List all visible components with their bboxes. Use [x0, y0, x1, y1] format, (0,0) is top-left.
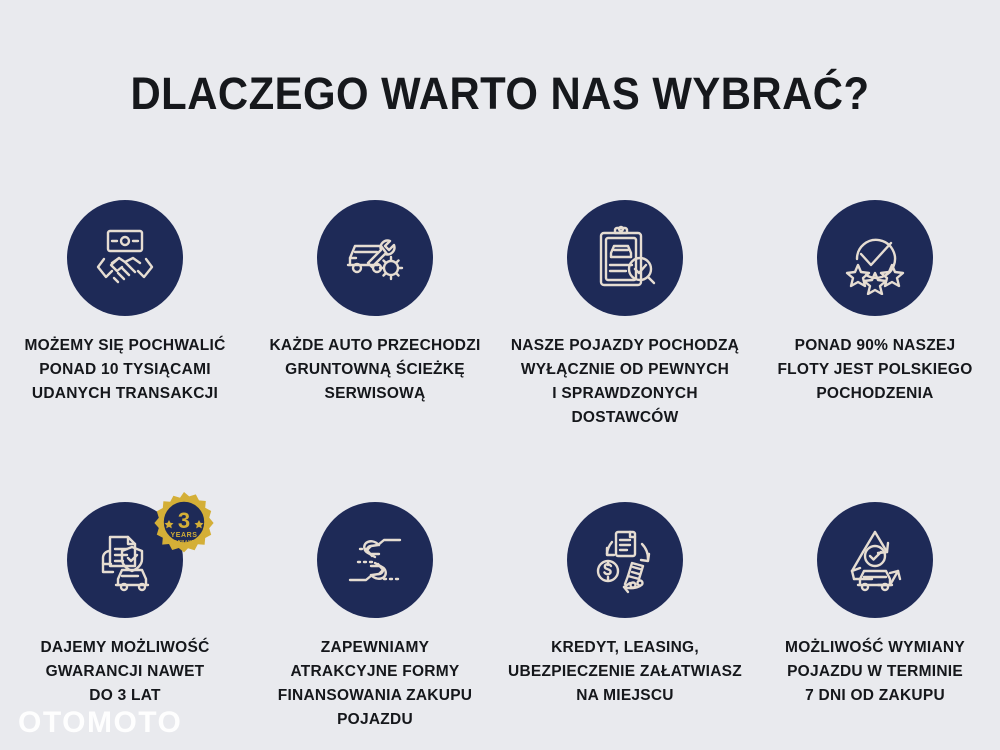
otomoto-watermark-logo: OTOMOTO — [18, 706, 182, 740]
svg-text:WARRANTY: WARRANTY — [170, 539, 197, 544]
checkmark-stars-quality-icon — [817, 200, 933, 316]
features-row-1: MOŻEMY SIĘ POCHWALIĆ PONAD 10 TYSIĄCAMI … — [0, 200, 1000, 430]
handshake-money-icon — [67, 200, 183, 316]
feature-item: KREDYT, LEASING, UBEZPIECZENIE ZAŁATWIAS… — [500, 502, 750, 732]
feature-item: MOŻEMY SIĘ POCHWALIĆ PONAD 10 TYSIĄCAMI … — [0, 200, 250, 430]
feature-caption: MOŻLIWOŚĆ WYMIANY POJAZDU W TERMINIE 7 D… — [785, 636, 965, 708]
svg-text:3: 3 — [178, 508, 190, 533]
icon-badge: 3 YEARS WARRANTY — [67, 502, 183, 618]
feature-item: KAŻDE AUTO PRZECHODZI GRUNTOWNĄ ŚCIEŻKĘ … — [250, 200, 500, 430]
warranty-seal-3-years-icon: 3 YEARS WARRANTY — [152, 490, 216, 554]
page-title: DLACZEGO WARTO NAS WYBRAĆ? — [35, 68, 965, 120]
clipboard-car-inspection-icon — [567, 200, 683, 316]
feature-item: NASZE POJAZDY POCHODZĄ WYŁĄCZNIE OD PEWN… — [500, 200, 750, 430]
feature-caption: PONAD 90% NASZEJ FLOTY JEST POLSKIEGO PO… — [777, 334, 972, 406]
feature-caption: NASZE POJAZDY POCHODZĄ WYŁĄCZNIE OD PEWN… — [506, 334, 744, 430]
svg-text:YEARS: YEARS — [170, 532, 197, 539]
feature-item: 3 YEARS WARRANTY DAJEMY MOŻLIWOŚĆ GWARAN… — [0, 502, 250, 732]
icon-badge — [317, 502, 433, 618]
feature-item: PONAD 90% NASZEJ FLOTY JEST POLSKIEGO PO… — [750, 200, 1000, 430]
features-row-2: 3 YEARS WARRANTY DAJEMY MOŻLIWOŚĆ GWARAN… — [0, 502, 1000, 732]
feature-caption: MOŻEMY SIĘ POCHWALIĆ PONAD 10 TYSIĄCAMI … — [24, 334, 225, 406]
features-grid: MOŻEMY SIĘ POCHWALIĆ PONAD 10 TYSIĄCAMI … — [0, 200, 1000, 732]
feature-item: ZAPEWNIAMY ATRAKCYJNE FORMY FINANSOWANIA… — [250, 502, 500, 732]
feature-item: MOŻLIWOŚĆ WYMIANY POJAZDU W TERMINIE 7 D… — [750, 502, 1000, 732]
financing-cycle-document-cart-coin-icon — [567, 502, 683, 618]
car-service-wrench-gear-icon — [317, 200, 433, 316]
car-exchange-recycle-check-icon — [817, 502, 933, 618]
hands-money-exchange-icon — [317, 502, 433, 618]
feature-caption: DAJEMY MOŻLIWOŚĆ GWARANCJI NAWET DO 3 LA… — [40, 636, 209, 708]
icon-badge — [817, 502, 933, 618]
icon-badge — [567, 200, 683, 316]
icon-badge — [67, 200, 183, 316]
icon-badge — [817, 200, 933, 316]
icon-badge — [567, 502, 683, 618]
infographic-page: DLACZEGO WARTO NAS WYBRAĆ? — [0, 0, 1000, 750]
feature-caption: KAŻDE AUTO PRZECHODZI GRUNTOWNĄ ŚCIEŻKĘ … — [269, 334, 480, 406]
icon-badge — [317, 200, 433, 316]
feature-caption: ZAPEWNIAMY ATRAKCYJNE FORMY FINANSOWANIA… — [278, 636, 472, 732]
feature-caption: KREDYT, LEASING, UBEZPIECZENIE ZAŁATWIAS… — [508, 636, 742, 708]
